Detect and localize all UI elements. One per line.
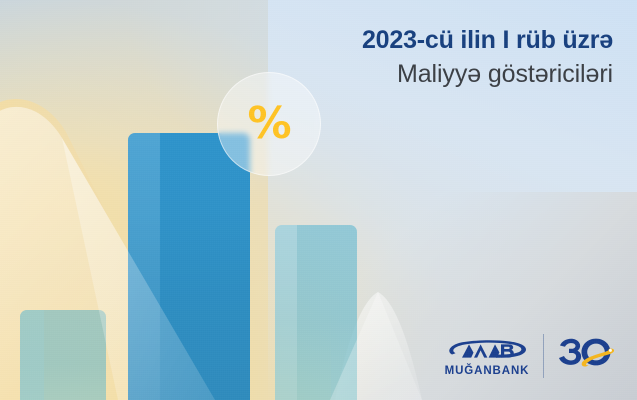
percent-badge: % — [217, 72, 321, 176]
anniversary-30-icon — [557, 336, 615, 376]
muganbank-monogram-icon — [444, 336, 530, 364]
chart-bar-2 — [128, 133, 250, 400]
chart-bar-3 — [275, 225, 357, 400]
percent-icon: % — [247, 102, 290, 146]
chart-bar-1 — [20, 310, 106, 400]
chart-bar-2-highlight — [128, 133, 160, 400]
chart-bar-3-highlight — [275, 225, 297, 400]
heading-line-2: Maliyyə göstəriciləri — [362, 58, 613, 90]
logo-lockup: MUĞANBANK — [444, 334, 615, 378]
chart-bar-1-highlight — [20, 310, 44, 400]
muganbank-wordmark: MUĞANBANK — [445, 365, 530, 377]
banner-heading: 2023-cü ilin I rüb üzrə Maliyyə göstəric… — [362, 24, 613, 90]
muganbank-logo: MUĞANBANK — [444, 336, 530, 377]
anniversary-30-badge — [557, 336, 615, 376]
heading-line-1: 2023-cü ilin I rüb üzrə — [362, 24, 613, 56]
financial-indicators-banner: % 2023-cü ilin I rüb üzrə Maliyyə göstər… — [0, 0, 637, 400]
logo-divider — [543, 334, 544, 378]
